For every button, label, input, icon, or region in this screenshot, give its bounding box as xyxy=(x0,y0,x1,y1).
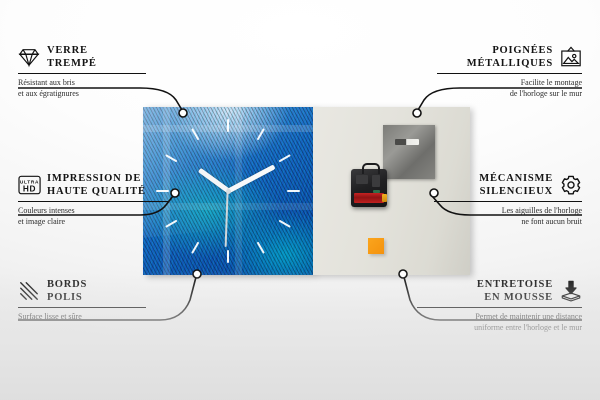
feature-title-row: POIGNÉES MÉTALLIQUES xyxy=(437,44,582,70)
divider xyxy=(434,201,582,202)
hour-mark xyxy=(191,242,199,254)
hanger-slot xyxy=(395,139,419,145)
print-grid-line xyxy=(235,107,242,275)
metal-hanger-plate xyxy=(383,125,435,179)
svg-text:HD: HD xyxy=(23,184,36,193)
hour-mark xyxy=(257,242,265,254)
diamond-icon xyxy=(18,46,40,68)
product-image xyxy=(143,107,470,275)
feature-title-row: BORDS POLIS xyxy=(18,278,146,304)
foam-spacer xyxy=(368,238,384,254)
feature-subtitle: Facilite le montage de l'horloge sur le … xyxy=(437,77,582,99)
feature-title-row: ultra HD IMPRESSION DE HAUTE QUALITÉ xyxy=(18,172,168,198)
feature-title: VERRE TREMPÉ xyxy=(47,44,97,70)
feature-title: BORDS POLIS xyxy=(47,278,87,304)
feature-silent-mechanism: MÉCANISME SILENCIEUX Les aiguilles de l'… xyxy=(434,172,582,227)
infographic-canvas: VERRE TREMPÉ Résistant aux bris et aux é… xyxy=(0,0,600,400)
feature-subtitle: Résistant aux bris et aux égratignures xyxy=(18,77,146,99)
feature-title: IMPRESSION DE HAUTE QUALITÉ xyxy=(47,172,146,198)
diagonal-lines-icon xyxy=(18,280,40,302)
feature-print-quality: ultra HD IMPRESSION DE HAUTE QUALITÉ Cou… xyxy=(18,172,168,227)
feature-polished-edges: BORDS POLIS Surface lisse et sûre xyxy=(18,278,146,322)
feature-title-row: MÉCANISME SILENCIEUX xyxy=(434,172,582,198)
feature-metal-handles: POIGNÉES MÉTALLIQUES Facilite le montage… xyxy=(437,44,582,99)
feature-foam-spacer: ENTRETOISE EN MOUSSE Permet de maintenir… xyxy=(417,278,582,333)
battery xyxy=(354,193,384,203)
picture-frame-icon xyxy=(560,46,582,68)
feature-title: POIGNÉES MÉTALLIQUES xyxy=(437,44,553,70)
gear-icon xyxy=(560,174,582,196)
divider xyxy=(18,307,146,308)
feature-tempered-glass: VERRE TREMPÉ Résistant aux bris et aux é… xyxy=(18,44,146,99)
hour-mark xyxy=(227,250,229,263)
clock-front-panel xyxy=(143,107,313,275)
feature-title: MÉCANISME SILENCIEUX xyxy=(434,172,553,198)
divider xyxy=(18,73,146,74)
mechanism-loop xyxy=(362,163,380,174)
hour-mark xyxy=(279,154,291,162)
feature-title-row: ENTRETOISE EN MOUSSE xyxy=(417,278,582,304)
silent-clock-mechanism xyxy=(351,169,387,207)
divider xyxy=(417,307,582,308)
arrow-down-pad-icon xyxy=(560,280,582,302)
mechanism-detail xyxy=(372,175,380,187)
feature-subtitle: Surface lisse et sûre xyxy=(18,311,146,322)
feature-subtitle: Permet de maintenir une distance uniform… xyxy=(417,311,582,333)
feature-subtitle: Les aiguilles de l'horloge ne font aucun… xyxy=(434,205,582,227)
divider xyxy=(18,201,168,202)
hands-hub xyxy=(226,189,231,194)
feature-subtitle: Couleurs intenses et image claire xyxy=(18,205,168,227)
feature-title-row: VERRE TREMPÉ xyxy=(18,44,146,70)
divider xyxy=(437,73,582,74)
hour-mark xyxy=(227,119,229,132)
hour-mark xyxy=(287,190,300,192)
hour-mark xyxy=(279,220,291,228)
feature-title: ENTRETOISE EN MOUSSE xyxy=(417,278,553,304)
ultra-hd-icon: ultra HD xyxy=(18,174,40,196)
mechanism-detail xyxy=(356,175,368,184)
